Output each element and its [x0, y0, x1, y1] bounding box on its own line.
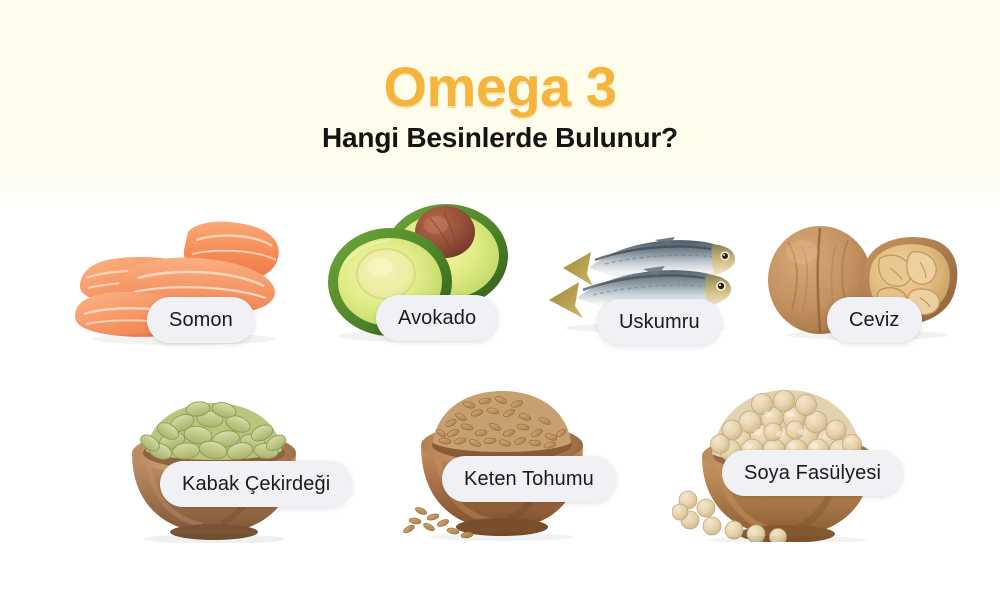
food-label-somon: Somon	[147, 297, 255, 343]
food-label-kabak-cekirdegi: Kabak Çekirdeği	[160, 461, 352, 507]
food-label-keten-tohumu: Keten Tohumu	[442, 456, 616, 502]
page-title: Omega 3	[0, 54, 1000, 119]
food-label-text: Keten Tohumu	[464, 468, 594, 491]
food-label-avokado: Avokado	[376, 295, 498, 341]
page-subtitle: Hangi Besinlerde Bulunur?	[0, 122, 1000, 154]
food-label-soya-fasulyesi: Soya Fasülyesi	[722, 450, 903, 496]
header-banner: Omega 3 Hangi Besinlerde Bulunur?	[0, 0, 1000, 205]
food-label-text: Avokado	[398, 307, 476, 330]
food-label-ceviz: Ceviz	[827, 297, 922, 343]
food-label-text: Uskumru	[619, 311, 700, 334]
food-label-text: Ceviz	[849, 309, 900, 332]
food-label-text: Soya Fasülyesi	[744, 462, 881, 485]
food-label-text: Somon	[169, 309, 233, 332]
food-label-text: Kabak Çekirdeği	[182, 473, 330, 496]
food-label-uskumru: Uskumru	[597, 299, 722, 345]
